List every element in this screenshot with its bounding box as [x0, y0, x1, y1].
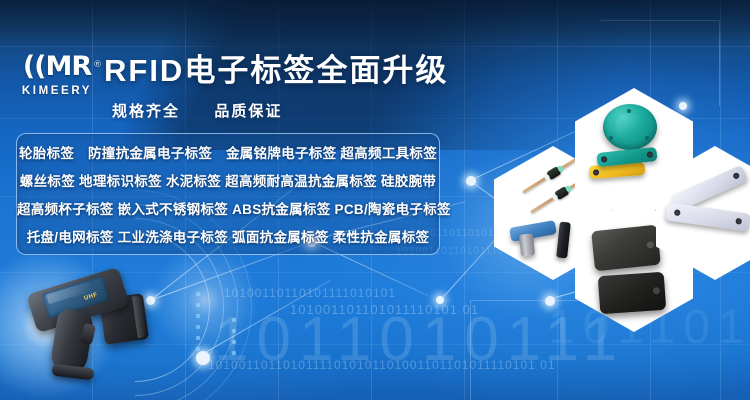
decor-dot-column [232, 318, 236, 362]
teal-disc-tag [603, 104, 657, 150]
white-uhf-bar-tag [665, 202, 750, 232]
binary-decor-line: 10100110110101111010101 [224, 286, 396, 300]
network-link [200, 280, 330, 356]
pad-notch [646, 241, 654, 249]
bar-tag-hole [732, 172, 740, 180]
disc-screw-hole [627, 109, 631, 113]
brand-wordmark: KIMEERY [14, 85, 100, 97]
screw-tag-shank [519, 233, 535, 256]
tag-category-row: 轮胎标签 防撞抗金属电子标签 金属铭牌电子标签 超高频工具标签 [17, 140, 439, 168]
subtitle: 规格齐全 品质保证 [112, 101, 282, 123]
bar-tag-hole [601, 156, 608, 163]
tag-category-panel: 轮胎标签 防撞抗金属电子标签 金属铭牌电子标签 超高频工具标签 螺丝标签 地理标… [16, 133, 440, 255]
subtitle-right: 品质保证 [214, 103, 282, 120]
binary-decor-line: 101001101101011110101 01 [290, 302, 479, 317]
bar-tag-hole [735, 218, 742, 225]
tag-category-row: 超高频杯子标签 嵌入式不锈钢标签 ABS抗金属标签 PCB/陶瓷电子标签 [17, 196, 439, 224]
top-vignette [0, 0, 750, 48]
page-title: RFID电子标签全面升级 [104, 52, 448, 90]
pad-notch [653, 287, 660, 294]
network-node [466, 176, 476, 186]
handheld-rfid-reader[interactable]: UHF [24, 272, 174, 400]
network-node [679, 102, 687, 110]
tag-category-row: 托盘/电网标签 工业洗涤电子标签 弧面抗金属标签 柔性抗金属标签 [17, 224, 439, 252]
grid-line-vertical [464, 0, 465, 400]
abs-anti-metal-pad [598, 272, 666, 315]
binary-decor-large: 1011010111 [214, 304, 625, 375]
subtitle-left: 规格齐全 [112, 103, 180, 120]
disc-screw-hole [609, 136, 613, 140]
bar-tag-hole [674, 209, 681, 216]
rod-tag-bead [546, 166, 562, 181]
tag-category-row: 螺丝标签 地理标识标签 水泥标签 超高频耐高温抗金属标签 硅胶腕带 [17, 168, 439, 196]
network-node [436, 296, 444, 304]
black-bar-tag [556, 222, 571, 259]
registered-trademark-icon: ® [93, 50, 102, 80]
network-node [545, 296, 555, 306]
abs-anti-metal-pad [591, 225, 661, 272]
rod-tag-bead [554, 186, 570, 201]
rfid-promo-banner: 10100110110101111010101 1010011011010111… [0, 0, 750, 400]
bar-tag-hole [593, 169, 599, 175]
reader-battery-base [51, 363, 94, 380]
bar-tag-hole [647, 151, 654, 158]
disc-screw-hole [645, 136, 649, 140]
binary-decor-line: 1010011011010111101010110100110110101111… [208, 358, 556, 372]
decor-wireframe [600, 20, 720, 106]
decor-dot-column [196, 292, 200, 358]
grid-line-horizontal [0, 46, 750, 47]
logo-mark-text: ((MR [23, 51, 91, 82]
network-node [196, 351, 210, 365]
kimeery-logo-icon: ((MR ® [14, 52, 100, 82]
brand-logo[interactable]: ((MR ® KIMEERY [14, 52, 100, 97]
